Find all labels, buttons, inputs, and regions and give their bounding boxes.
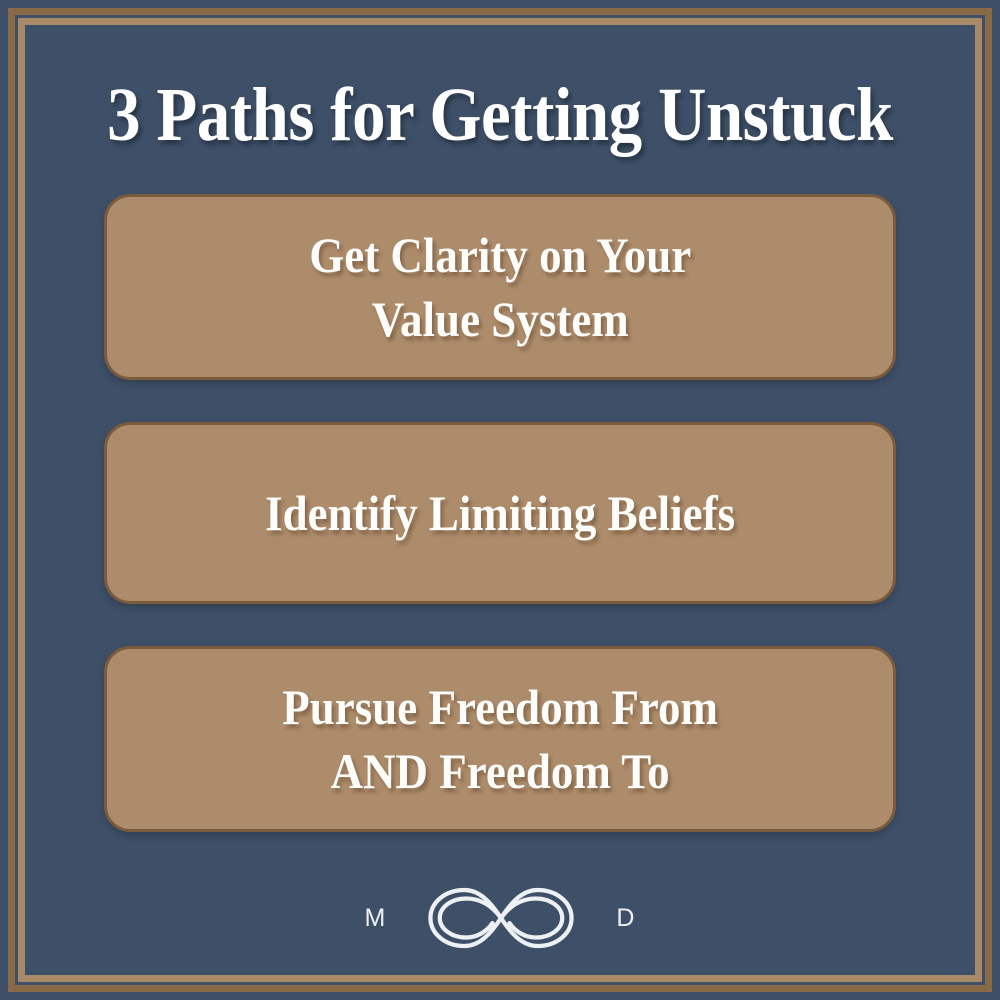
content-area: 3 Paths for Getting Unstuck Get Clarity … [25,25,975,975]
path-card-2: Identify Limiting Beliefs [104,422,896,604]
path-card-3: Pursue Freedom From AND Freedom To [104,646,896,832]
logo-letter-m: M [365,906,387,931]
graphic-canvas: 3 Paths for Getting Unstuck Get Clarity … [0,0,1000,1000]
page-title: 3 Paths for Getting Unstuck [82,73,918,157]
path-card-3-label: Pursue Freedom From AND Freedom To [282,675,718,803]
path-card-1-label: Get Clarity on Your Value System [309,223,691,351]
infinity-ribbon-icon [416,875,586,961]
brand-logo: M D [25,861,975,975]
path-card-1: Get Clarity on Your Value System [104,194,896,380]
path-card-2-label: Identify Limiting Beliefs [265,481,735,545]
paths-list: Get Clarity on Your Value System Identif… [25,194,975,832]
logo-letter-d: D [616,906,635,931]
